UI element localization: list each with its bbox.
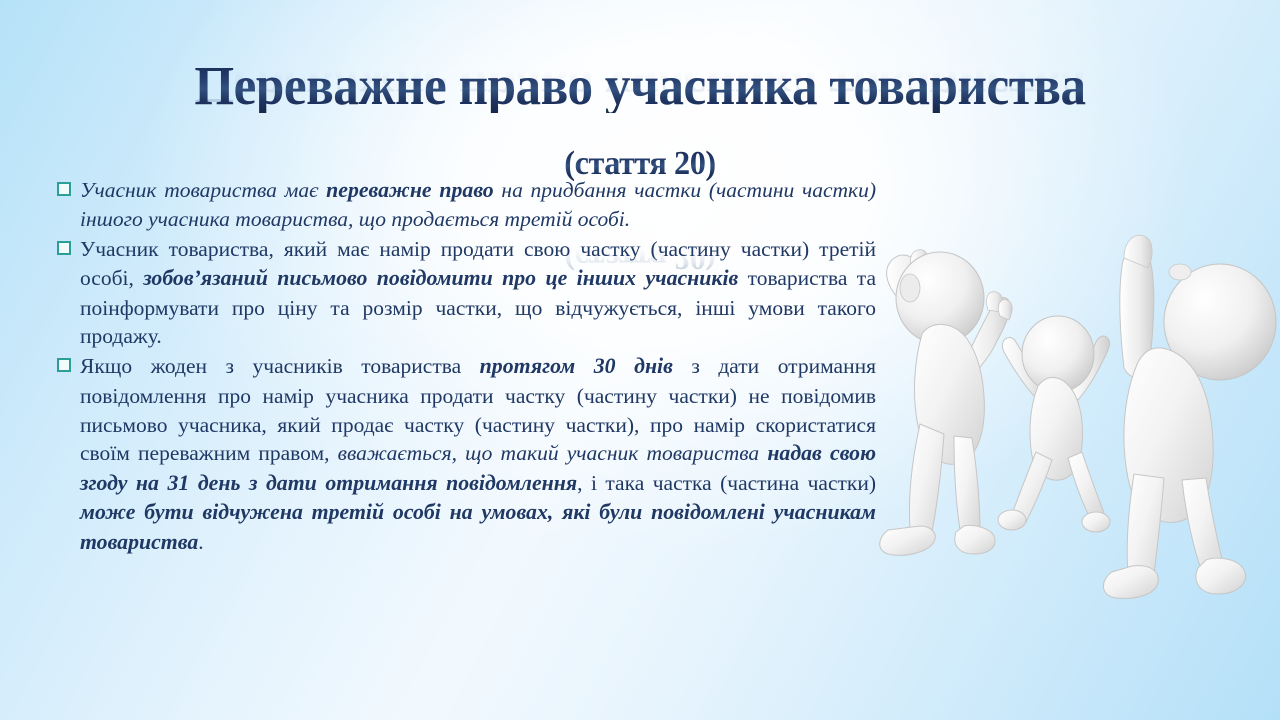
bullet-3-seg-5: . xyxy=(198,530,203,554)
figure-left xyxy=(880,250,1012,556)
bullet-3-emphasis-1: протягом 30 днів xyxy=(480,354,673,378)
square-bullet-icon xyxy=(57,182,71,196)
bullet-1-emphasis-1: переважне право xyxy=(326,178,494,202)
figure-center xyxy=(998,316,1110,532)
square-bullet-icon xyxy=(57,358,71,372)
bullet-item-1: Учасник товариства має переважне право н… xyxy=(52,176,876,234)
slide-title-block: Переважне право учасника товариства Пере… xyxy=(0,58,1280,181)
bullet-1-seg-1: Учасник товариства має xyxy=(80,178,326,202)
figure-right xyxy=(1103,235,1276,598)
three-3d-figures-image xyxy=(862,212,1280,612)
figures-svg xyxy=(862,212,1280,612)
bullet-2-emphasis-1: зобов’язаний письмово повідомити про це … xyxy=(143,266,738,290)
bullet-list: Учасник товариства має переважне право н… xyxy=(52,176,876,558)
bullet-3-seg-1: Якщо жоден з учасників товариства xyxy=(80,354,480,378)
bullet-item-2: Учасник товариства, який має намір прода… xyxy=(52,235,876,351)
bullet-3-seg-4: , і така частка (частина частки) xyxy=(577,471,876,495)
bullet-3-seg-3: вважається, що такий учасник товариства xyxy=(338,441,768,465)
square-bullet-icon xyxy=(57,241,71,255)
title-main-wrap: Переважне право учасника товариства Пере… xyxy=(0,58,1280,113)
page-title: Переважне право учасника товариства xyxy=(45,58,1235,113)
slide-canvas: Переважне право учасника товариства Пере… xyxy=(0,0,1280,720)
bullet-item-3: Якщо жоден з учасників товариства протяг… xyxy=(52,352,876,557)
